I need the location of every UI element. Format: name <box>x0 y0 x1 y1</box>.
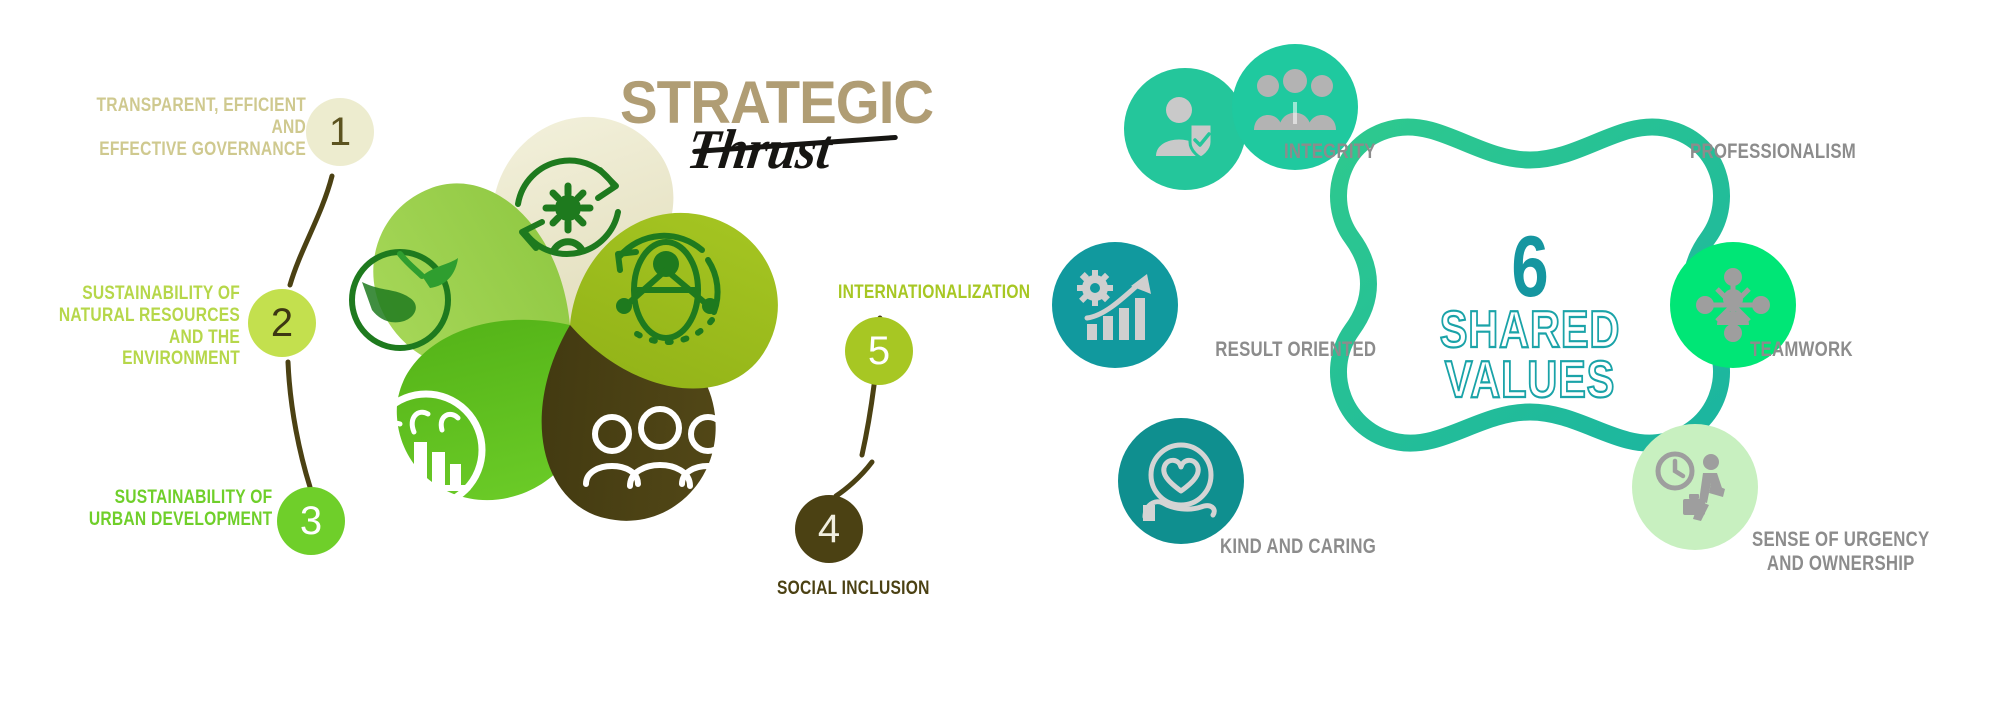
number-bubble-5[interactable]: 5 <box>845 317 913 385</box>
strategic-label-internationalization: INTERNATIONALIZATION <box>838 282 1078 304</box>
shared-values-panel: 6 SHARED VALUES INTEGRITY PROFESSIONALIS… <box>1060 0 2000 706</box>
strategic-label-social-inclusion: SOCIAL INCLUSION <box>777 578 968 600</box>
number-bubble-3[interactable]: 3 <box>277 487 345 555</box>
team-group-icon <box>1252 68 1338 146</box>
network-people-icon <box>1691 263 1775 347</box>
shared-values-center-text: 6 SHARED VALUES <box>1390 230 1670 405</box>
hand-heart-icon <box>1139 439 1223 523</box>
value-label-teamwork: TEAMWORK <box>1750 338 2000 362</box>
shared-values-line2: VALUES <box>1418 356 1642 406</box>
value-label-professionalism: PROFESSIONALISM <box>1690 140 2000 164</box>
strategic-thrust-panel: STRATEGIC Thrust <box>0 0 1060 706</box>
value-label-kind-and-caring: KIND AND CARING <box>1020 535 1376 559</box>
strategic-thrust-petal-group <box>310 80 830 600</box>
gear-growth-chart-icon <box>1073 266 1157 344</box>
shared-values-count: 6 <box>1421 230 1639 306</box>
clock-running-person-icon <box>1653 447 1737 527</box>
value-circle-kind-and-caring[interactable] <box>1118 418 1244 544</box>
infographic-canvas: STRATEGIC Thrust <box>0 0 2000 706</box>
strategic-label-natural-resources: SUSTAINABILITY OF NATURAL RESOURCES AND … <box>0 283 240 370</box>
strategic-label-urban-development: SUSTAINABILITY OF URBAN DEVELOPMENT <box>0 487 272 531</box>
number-bubble-1[interactable]: 1 <box>306 98 374 166</box>
value-circle-integrity[interactable] <box>1124 68 1246 190</box>
value-label-integrity: INTEGRITY <box>1060 140 1376 164</box>
strategic-label-governance: TRANSPARENT, EFFICIENT AND EFFECTIVE GOV… <box>20 95 306 160</box>
number-bubble-2[interactable]: 2 <box>248 289 316 357</box>
value-circle-sense-of-urgency[interactable] <box>1632 424 1758 550</box>
number-bubble-4[interactable]: 4 <box>795 495 863 563</box>
value-label-sense-of-urgency: SENSE OF URGENCY AND OWNERSHIP <box>1752 528 2000 576</box>
shared-values-line1: SHARED <box>1418 306 1642 356</box>
value-label-result-oriented: RESULT ORIENTED <box>1020 338 1376 362</box>
